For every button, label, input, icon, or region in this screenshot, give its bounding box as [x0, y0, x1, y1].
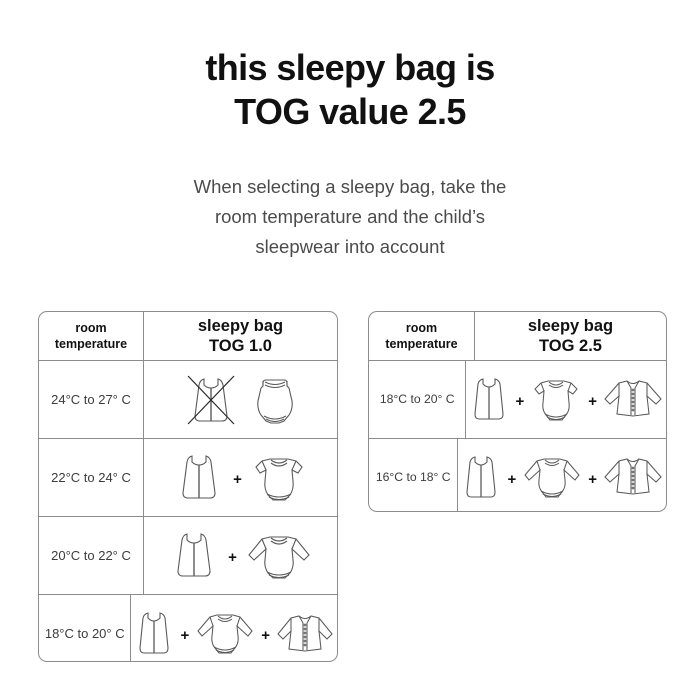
sleepy-bag-icon [166, 525, 222, 587]
sleepy-bag-icon [131, 605, 177, 663]
bodysuit-long-sleeve-icon [243, 527, 315, 585]
page-subtitle-line-3: sleepwear into account [120, 232, 580, 262]
table-row: 18°C to 20° C + [39, 594, 337, 662]
header-cell-sleepy-bag: sleepy bag TOG 1.0 [144, 312, 337, 360]
table-row: 22°C to 24° C + [39, 438, 337, 516]
bodysuit-sleeveless-icon [248, 371, 302, 429]
header-room-line-1: room [75, 321, 106, 335]
clothing-cell: + + [131, 595, 337, 662]
tog-1-0-table: room temperature sleepy bag TOG 1.0 24°C… [38, 311, 338, 662]
header-bag-line-1: sleepy bag [528, 316, 613, 336]
table-header-row: room temperature sleepy bag TOG 2.5 [369, 312, 666, 360]
header-bag-line-1: sleepy bag [198, 316, 283, 336]
plus-separator: + [261, 628, 270, 643]
infographic-page: this sleepy bag is TOG value 2.5 When se… [0, 0, 700, 700]
header-room-line-1: room [406, 321, 437, 335]
sleepy-bag-icon [466, 371, 512, 429]
cardigan-icon [600, 451, 666, 505]
header-cell-sleepy-bag: sleepy bag TOG 2.5 [475, 312, 666, 360]
table-row: 18°C to 20° C + [369, 360, 666, 438]
table-header-row: room temperature sleepy bag TOG 1.0 [39, 312, 337, 360]
plus-separator: + [588, 394, 597, 409]
bodysuit-long-sleeve-icon [192, 606, 258, 662]
sleepy-bag-crossed-out-icon [180, 369, 242, 431]
header-bag-line-2: TOG 2.5 [528, 336, 613, 356]
page-subtitle: When selecting a sleepy bag, take the ro… [120, 172, 580, 262]
header-room-line-2: temperature [55, 337, 127, 351]
page-title-line-2: TOG value 2.5 [0, 90, 700, 134]
header-cell-room-temperature: room temperature [369, 312, 475, 360]
temperature-value: 20°C to 22° C [51, 547, 131, 564]
bodysuit-long-sleeve-icon [519, 450, 585, 506]
table-row: 16°C to 18° C + [369, 438, 666, 512]
temperature-cell: 18°C to 20° C [369, 361, 466, 438]
header-bag-line-2: TOG 1.0 [198, 336, 283, 356]
clothing-cell: + + [466, 361, 666, 438]
plus-separator: + [507, 472, 516, 487]
page-subtitle-line-2: room temperature and the child’s [120, 202, 580, 232]
page-subtitle-line-1: When selecting a sleepy bag, take the [120, 172, 580, 202]
cardigan-icon [273, 607, 337, 661]
table-row: 24°C to 27° C [39, 360, 337, 438]
clothing-cell: + + [458, 439, 666, 512]
page-title-line-1: this sleepy bag is [205, 47, 494, 88]
sleepy-bag-icon [458, 449, 504, 507]
temperature-value: 22°C to 24° C [51, 469, 131, 486]
bodysuit-short-sleeve-icon [248, 449, 310, 507]
temperature-cell: 24°C to 27° C [39, 361, 144, 438]
temperature-cell: 20°C to 22° C [39, 517, 144, 594]
clothing-cell: + [144, 439, 337, 516]
temperature-value: 18°C to 20° C [45, 625, 125, 642]
table-row: 20°C to 22° C + [39, 516, 337, 594]
clothing-cell [144, 361, 337, 438]
page-title: this sleepy bag is TOG value 2.5 [0, 46, 700, 134]
sleepy-bag-icon [171, 447, 227, 509]
temperature-value: 24°C to 27° C [51, 391, 131, 408]
cardigan-icon [600, 373, 666, 427]
temperature-cell: 22°C to 24° C [39, 439, 144, 516]
temperature-value: 18°C to 20° C [380, 391, 455, 408]
bodysuit-short-sleeve-icon [527, 372, 585, 428]
header-cell-room-temperature: room temperature [39, 312, 144, 360]
temperature-value: 16°C to 18° C [376, 469, 451, 486]
plus-separator: + [180, 628, 189, 643]
plus-separator: + [228, 550, 237, 565]
plus-separator: + [515, 394, 524, 409]
plus-separator: + [588, 472, 597, 487]
header-room-line-2: temperature [385, 337, 457, 351]
plus-separator: + [233, 472, 242, 487]
temperature-cell: 18°C to 20° C [39, 595, 131, 662]
temperature-cell: 16°C to 18° C [369, 439, 458, 512]
tog-2-5-table: room temperature sleepy bag TOG 2.5 18°C… [368, 311, 667, 512]
clothing-cell: + [144, 517, 337, 594]
